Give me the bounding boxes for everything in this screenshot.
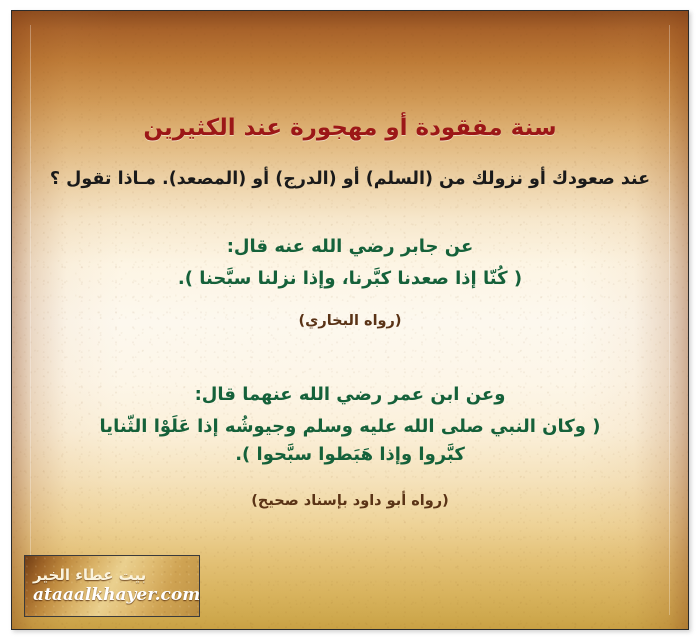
hadith-narrator: عن جابر رضي الله عنه قال: [12,236,688,257]
watermark-badge[interactable]: بيت عطاء الخير ataaalkhayer.com [24,555,200,617]
poster-frame: سنة مفقودة أو مهجورة عند الكثيرين عند صع… [11,10,689,630]
page-title: سنة مفقودة أو مهجورة عند الكثيرين [12,115,688,141]
question-text: عند صعودك أو نزولك من (السلم) أو (الدرج)… [12,169,688,189]
watermark-arabic-name: بيت عطاء الخير [33,566,146,584]
hadith-block-abudawud: وعن ابن عمر رضي الله عنهما قال: ( وكان ا… [12,384,688,509]
hadith-text: ( كُنّا إذا صعدنا كبَّرنا، وإذا نزلنا سب… [12,265,688,293]
hadith-narrator: وعن ابن عمر رضي الله عنهما قال: [12,384,688,405]
hadith-block-bukhari: عن جابر رضي الله عنه قال: ( كُنّا إذا صع… [12,236,688,329]
hadith-source: (رواه أبو داود بإسناد صحيح) [12,493,688,509]
hadith-text-line-1: ( وكان النبي صلى الله عليه وسلم وجيوشُه … [12,413,688,441]
hadith-source: (رواه البخاري) [12,313,688,329]
poster-container: سنة مفقودة أو مهجورة عند الكثيرين عند صع… [0,0,700,642]
watermark-website-url: ataaalkhayer.com [33,585,200,605]
poster-content: سنة مفقودة أو مهجورة عند الكثيرين عند صع… [12,11,688,629]
hadith-text-line-2: كبَّروا وإذا هَبَطوا سبَّحوا ). [12,441,688,469]
